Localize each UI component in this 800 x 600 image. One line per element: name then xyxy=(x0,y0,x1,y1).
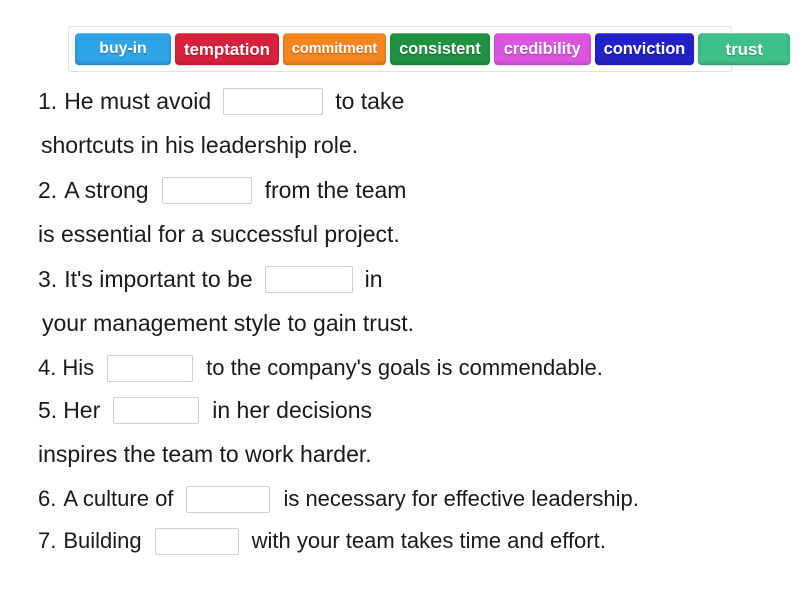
question-3-blank[interactable] xyxy=(265,266,353,293)
word-tile-buy-in[interactable]: buy-in xyxy=(75,33,171,65)
question-5-blank[interactable] xyxy=(113,397,199,424)
word-tile-commitment[interactable]: commitment xyxy=(283,33,386,65)
question-3-number: 3. xyxy=(38,268,57,291)
question-5-number: 5. xyxy=(38,399,57,422)
question-3-line-2: your management style to gain trust. xyxy=(38,300,778,347)
question-1-text-after: to take xyxy=(335,90,404,113)
question-2-number: 2. xyxy=(38,179,57,202)
question-2-line-2: is essential for a successful project. xyxy=(38,211,778,258)
question-5-text-before: Her xyxy=(63,399,100,422)
word-tile-conviction[interactable]: conviction xyxy=(595,33,695,65)
question-4-blank[interactable] xyxy=(107,355,193,382)
question-5-line-1: 5. Her in her decisions xyxy=(38,389,778,431)
question-1-number: 1. xyxy=(38,90,57,113)
question-7-number: 7. xyxy=(38,530,56,552)
question-1-line-1: 1. He must avoid to take xyxy=(38,80,778,122)
question-7-text-before: Building xyxy=(63,530,141,552)
question-2-text-after: from the team xyxy=(265,179,407,202)
question-2-blank[interactable] xyxy=(162,177,252,204)
question-4: 4. His to the company's goals is commend… xyxy=(38,347,778,389)
question-4-line-1: 4. His to the company's goals is commend… xyxy=(38,347,778,389)
question-2: 2. A strong from the team is essential f… xyxy=(38,169,778,258)
question-6-number: 6. xyxy=(38,488,56,510)
question-3-text-line2: your management style to gain trust. xyxy=(42,312,414,335)
question-5-line-2: inspires the team to work harder. xyxy=(38,431,778,478)
question-2-text-before: A strong xyxy=(64,179,148,202)
question-1-text-before: He must avoid xyxy=(64,90,211,113)
question-5-text-line2: inspires the team to work harder. xyxy=(38,443,372,466)
question-3: 3. It's important to be in your manageme… xyxy=(38,258,778,347)
question-1: 1. He must avoid to take shortcuts in hi… xyxy=(38,80,778,169)
word-bank: buy-in temptation commitment consistent … xyxy=(68,26,732,72)
question-7-line-1: 7. Building with your team takes time an… xyxy=(38,520,778,562)
question-5: 5. Her in her decisions inspires the tea… xyxy=(38,389,778,478)
question-4-number: 4. xyxy=(38,357,56,379)
question-5-text-after: in her decisions xyxy=(212,399,372,422)
question-7: 7. Building with your team takes time an… xyxy=(38,520,778,562)
word-tile-trust[interactable]: trust xyxy=(698,33,790,65)
question-3-text-after: in xyxy=(365,268,383,291)
fill-in-the-blank-worksheet: buy-in temptation commitment consistent … xyxy=(0,0,800,600)
word-tile-credibility[interactable]: credibility xyxy=(494,33,591,65)
question-4-text-after: to the company's goals is commendable. xyxy=(206,357,603,379)
question-6-text-after: is necessary for effective leadership. xyxy=(283,488,638,510)
question-2-line-1: 2. A strong from the team xyxy=(38,169,778,211)
questions-list: 1. He must avoid to take shortcuts in hi… xyxy=(38,80,778,562)
question-6-line-1: 6. A culture of is necessary for effecti… xyxy=(38,478,778,520)
question-7-blank[interactable] xyxy=(155,528,239,555)
question-1-text-line2: shortcuts in his leadership role. xyxy=(41,134,358,157)
question-6: 6. A culture of is necessary for effecti… xyxy=(38,478,778,520)
question-6-blank[interactable] xyxy=(186,486,270,513)
question-7-text-after: with your team takes time and effort. xyxy=(252,530,606,552)
question-4-text-before: His xyxy=(62,357,94,379)
question-6-text-before: A culture of xyxy=(63,488,173,510)
word-tile-consistent[interactable]: consistent xyxy=(390,33,490,65)
question-2-text-line2: is essential for a successful project. xyxy=(38,223,400,246)
question-1-line-2: shortcuts in his leadership role. xyxy=(38,122,778,169)
question-1-blank[interactable] xyxy=(223,88,323,115)
question-3-line-1: 3. It's important to be in xyxy=(38,258,778,300)
word-tile-temptation[interactable]: temptation xyxy=(175,33,279,65)
question-3-text-before: It's important to be xyxy=(64,268,252,291)
